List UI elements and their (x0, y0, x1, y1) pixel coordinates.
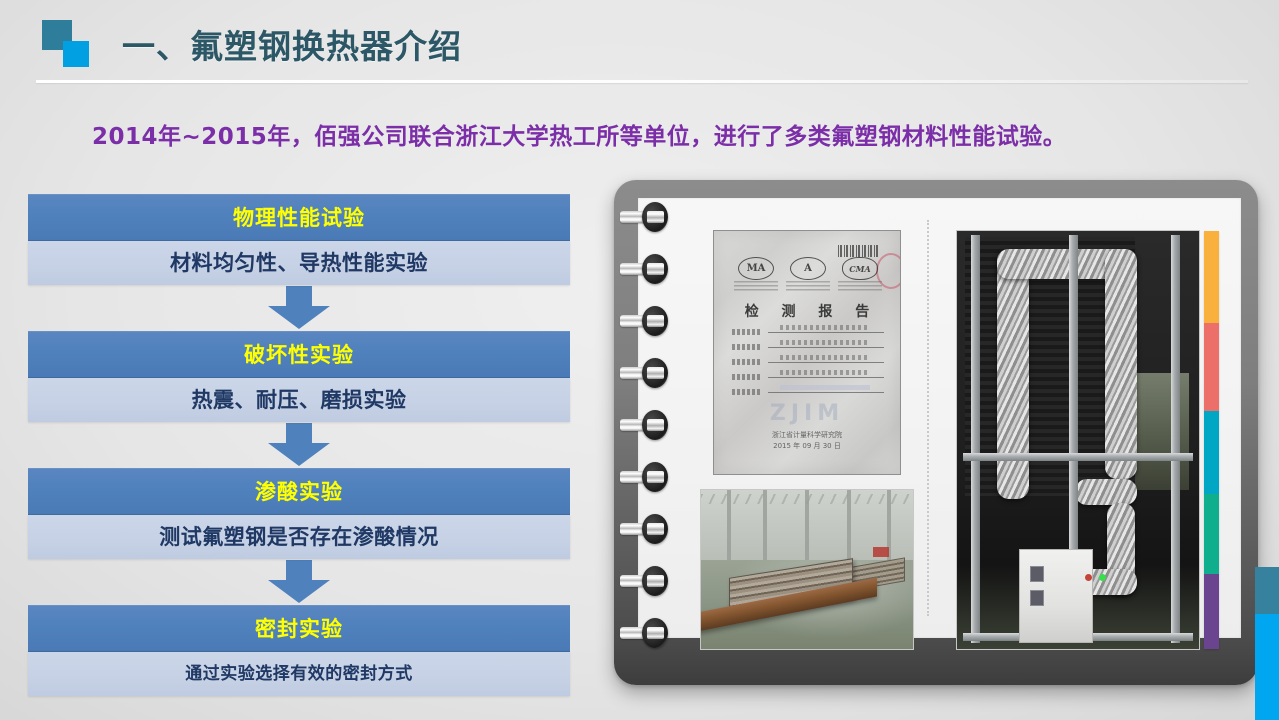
rig-frame-post (1171, 235, 1180, 643)
ring-clip (647, 575, 664, 587)
flow-arrow-1 (28, 285, 570, 331)
color-segment-purple (1204, 574, 1219, 649)
report-field-row (732, 329, 884, 335)
spiral-ring (620, 202, 674, 232)
report-field-list (732, 329, 884, 404)
color-segment-green (1204, 494, 1219, 573)
barcode-icon (838, 245, 880, 257)
flow-step-2-head: 破坏性实验 (28, 331, 570, 378)
factory-column (727, 490, 731, 560)
report-footer: 浙江省计量科学研究院 2015 年 09 月 30 日 (714, 430, 900, 452)
ring-clip (647, 627, 664, 639)
spiral-ring (620, 514, 674, 544)
report-field-label (732, 329, 760, 335)
page-title: 一、氟塑钢换热器介绍 (122, 20, 462, 68)
test-rig-photo (956, 230, 1200, 650)
rig-window (1135, 373, 1189, 490)
report-field-row (732, 389, 884, 395)
cqc-mark-icon: A (790, 257, 826, 280)
title-divider-rule (36, 80, 1248, 83)
test-report-scan: MA A CMA 检 测 报 告 (713, 230, 901, 475)
flow-step-4-body: 通过实验选择有效的密封方式 (28, 652, 570, 696)
flow-step-3-body: 测试氟塑钢是否存在渗酸情况 (28, 515, 570, 559)
rig-control-cabinet (1019, 549, 1093, 643)
report-field-label (732, 344, 760, 350)
flow-step-4-head: 密封实验 (28, 605, 570, 652)
cabinet-gauge-icon (1030, 566, 1044, 582)
spiral-ring (620, 618, 674, 648)
rig-power-led-red (1085, 574, 1092, 581)
experiment-flowchart: 物理性能试验 材料均匀性、导热性能实验 破坏性实验 热震、耐压、磨损实验 渗酸实… (28, 194, 570, 696)
logo-square-bright-icon (63, 41, 89, 67)
spiral-binding (614, 202, 674, 662)
factory-column (763, 490, 767, 560)
report-field-row (732, 359, 884, 365)
mark-captions (730, 281, 886, 291)
report-field-value (768, 391, 884, 393)
flow-step-1-head: 物理性能试验 (28, 194, 570, 241)
ring-clip (647, 367, 664, 379)
insulated-duct-right-riser (1105, 249, 1137, 479)
report-watermark: ZJIM (714, 401, 900, 426)
spiral-ring (620, 254, 674, 284)
report-title: 检 测 报 告 (714, 301, 900, 321)
mark-caption-2 (786, 281, 830, 291)
spiral-ring (620, 358, 674, 388)
rig-frame-post (971, 235, 980, 643)
report-issuer: 浙江省计量科学研究院 (714, 430, 900, 441)
color-segment-cyan (1204, 411, 1219, 495)
report-field-value (768, 361, 884, 363)
report-field-value (768, 331, 884, 333)
factory-column (805, 490, 809, 560)
ma-mark-icon: MA (738, 257, 774, 280)
flow-step-4: 密封实验 通过实验选择有效的密封方式 (28, 605, 570, 696)
subtitle-text: 2014年~2015年，佰强公司联合浙江大学热工所等单位，进行了多类氟塑钢材料性… (92, 117, 1066, 151)
spiral-ring (620, 410, 674, 440)
flow-step-3: 渗酸实验 测试氟塑钢是否存在渗酸情况 (28, 468, 570, 559)
report-field-label (732, 359, 760, 365)
spiral-ring (620, 566, 674, 596)
flow-step-3-head: 渗酸实验 (28, 468, 570, 515)
factory-tube-bundle-photo (700, 489, 914, 650)
insulated-duct-mid-elbow (1075, 479, 1137, 505)
factory-column (847, 490, 851, 560)
edge-accent-dark (1255, 567, 1279, 614)
flow-step-2: 破坏性实验 热震、耐压、磨损实验 (28, 331, 570, 422)
report-field-row (732, 344, 884, 350)
edge-accent-bright (1255, 614, 1279, 720)
flow-arrow-2 (28, 422, 570, 468)
report-field-row (732, 374, 884, 380)
ring-clip (647, 315, 664, 327)
ring-clip (647, 523, 664, 535)
mark-caption-3 (838, 281, 882, 291)
report-field-label (732, 389, 760, 395)
spiral-ring (620, 462, 674, 492)
notebook-panel: MA A CMA 检 测 报 告 (614, 180, 1258, 685)
flow-step-1-body: 材料均匀性、导热性能实验 (28, 241, 570, 285)
ring-clip (647, 419, 664, 431)
ring-clip (647, 211, 664, 223)
report-field-label (732, 374, 760, 380)
ring-clip (647, 263, 664, 275)
cabinet-gauge-icon (1030, 590, 1044, 606)
page-divider (927, 220, 929, 616)
ring-clip (647, 471, 664, 483)
notebook-page: MA A CMA 检 测 报 告 (638, 198, 1241, 638)
color-stripe-bar (1204, 231, 1219, 649)
factory-forklift (873, 547, 889, 557)
flow-step-2-body: 热震、耐压、磨损实验 (28, 378, 570, 422)
cmа-mark-icon: CMA (842, 257, 878, 280)
color-segment-salmon (1204, 323, 1219, 411)
spiral-ring (620, 306, 674, 336)
color-segment-orange (1204, 231, 1219, 323)
certification-marks: MA A CMA (730, 257, 886, 280)
flow-step-1: 物理性能试验 材料均匀性、导热性能实验 (28, 194, 570, 285)
slide-canvas: 一、氟塑钢换热器介绍 2014年~2015年，佰强公司联合浙江大学热工所等单位，… (0, 0, 1279, 720)
report-field-value (768, 376, 884, 378)
flow-arrow-3 (28, 559, 570, 605)
insulated-duct-left-riser (997, 249, 1029, 499)
report-date: 2015 年 09 月 30 日 (714, 441, 900, 452)
rig-frame-rail (963, 453, 1193, 461)
rig-power-led-green (1099, 574, 1106, 581)
mark-caption-1 (734, 281, 778, 291)
report-field-value (768, 346, 884, 348)
